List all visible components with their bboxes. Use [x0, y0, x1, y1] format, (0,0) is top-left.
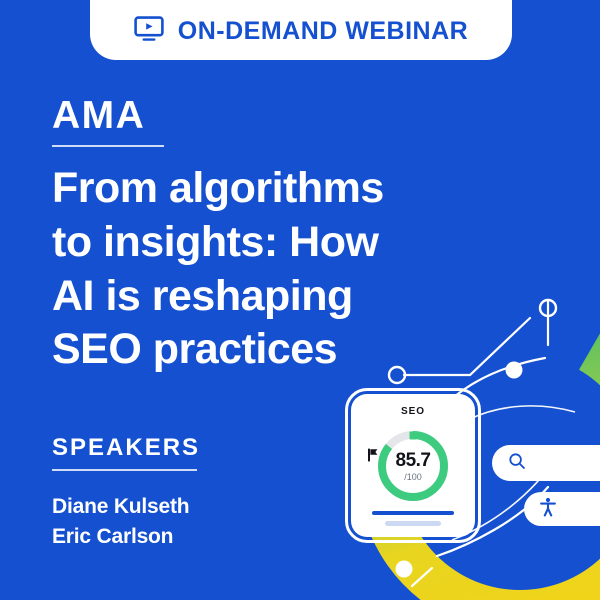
card-bar-primary: [372, 511, 454, 515]
search-icon: [508, 452, 526, 475]
search-input[interactable]: [492, 445, 600, 481]
list-item: Eric Carlson: [52, 522, 200, 552]
flag-icon: [367, 448, 379, 467]
speakers-heading: SPEAKERS: [52, 436, 200, 460]
circuit-node: [396, 561, 413, 578]
speaker-list: Diane Kulseth Eric Carlson: [52, 492, 200, 553]
list-item: Diane Kulseth: [52, 492, 200, 522]
monitor-play-icon: [134, 16, 164, 47]
seo-score-card: SEO 85.7 /100: [351, 394, 475, 537]
card-bar-secondary: [385, 521, 441, 526]
circuit-node: [506, 362, 523, 379]
webinar-banner: ON-DEMAND WEBINAR: [90, 0, 512, 60]
seo-gauge: 85.7 /100: [370, 423, 456, 495]
seo-card-title: SEO: [401, 406, 425, 417]
eyebrow-label: AMA: [52, 96, 164, 135]
page-title: From algorithms to insights: How AI is r…: [52, 162, 492, 377]
accessibility-icon: [538, 497, 558, 522]
speakers-divider: [52, 469, 197, 471]
headline-line: AI is reshaping: [52, 270, 492, 324]
eyebrow-divider: [52, 145, 164, 147]
headline-line: SEO practices: [52, 323, 492, 377]
accessibility-button[interactable]: [524, 492, 600, 526]
speakers-block: SPEAKERS Diane Kulseth Eric Carlson: [52, 436, 200, 553]
eyebrow-block: AMA: [52, 96, 164, 147]
headline-line: to insights: How: [52, 216, 492, 270]
webinar-promo-canvas: ON-DEMAND WEBINAR AMA From algorithms to…: [0, 0, 600, 600]
headline-line: From algorithms: [52, 162, 492, 216]
banner-label: ON-DEMAND WEBINAR: [178, 17, 468, 46]
